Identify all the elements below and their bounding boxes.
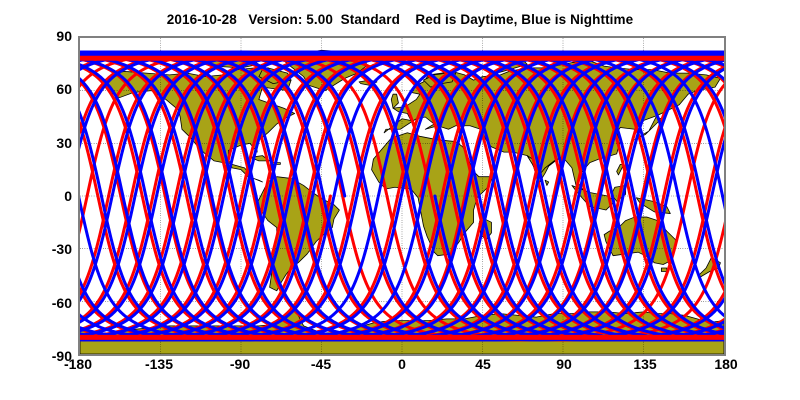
x-tick-label: 135: [615, 357, 675, 371]
x-tick-label: 90: [534, 357, 594, 371]
ground-track-chart: 2016-10-28 Version: 5.00 Standard Red is…: [0, 0, 800, 400]
x-tick-label: -90: [210, 357, 270, 371]
x-tick-label: -180: [48, 357, 108, 371]
x-axis: -180-135-90-4504590135180: [0, 0, 800, 400]
x-tick-label: 45: [453, 357, 513, 371]
x-tick-label: 180: [696, 357, 756, 371]
x-tick-label: -45: [291, 357, 351, 371]
x-tick-label: 0: [372, 357, 432, 371]
x-tick-label: -135: [129, 357, 189, 371]
